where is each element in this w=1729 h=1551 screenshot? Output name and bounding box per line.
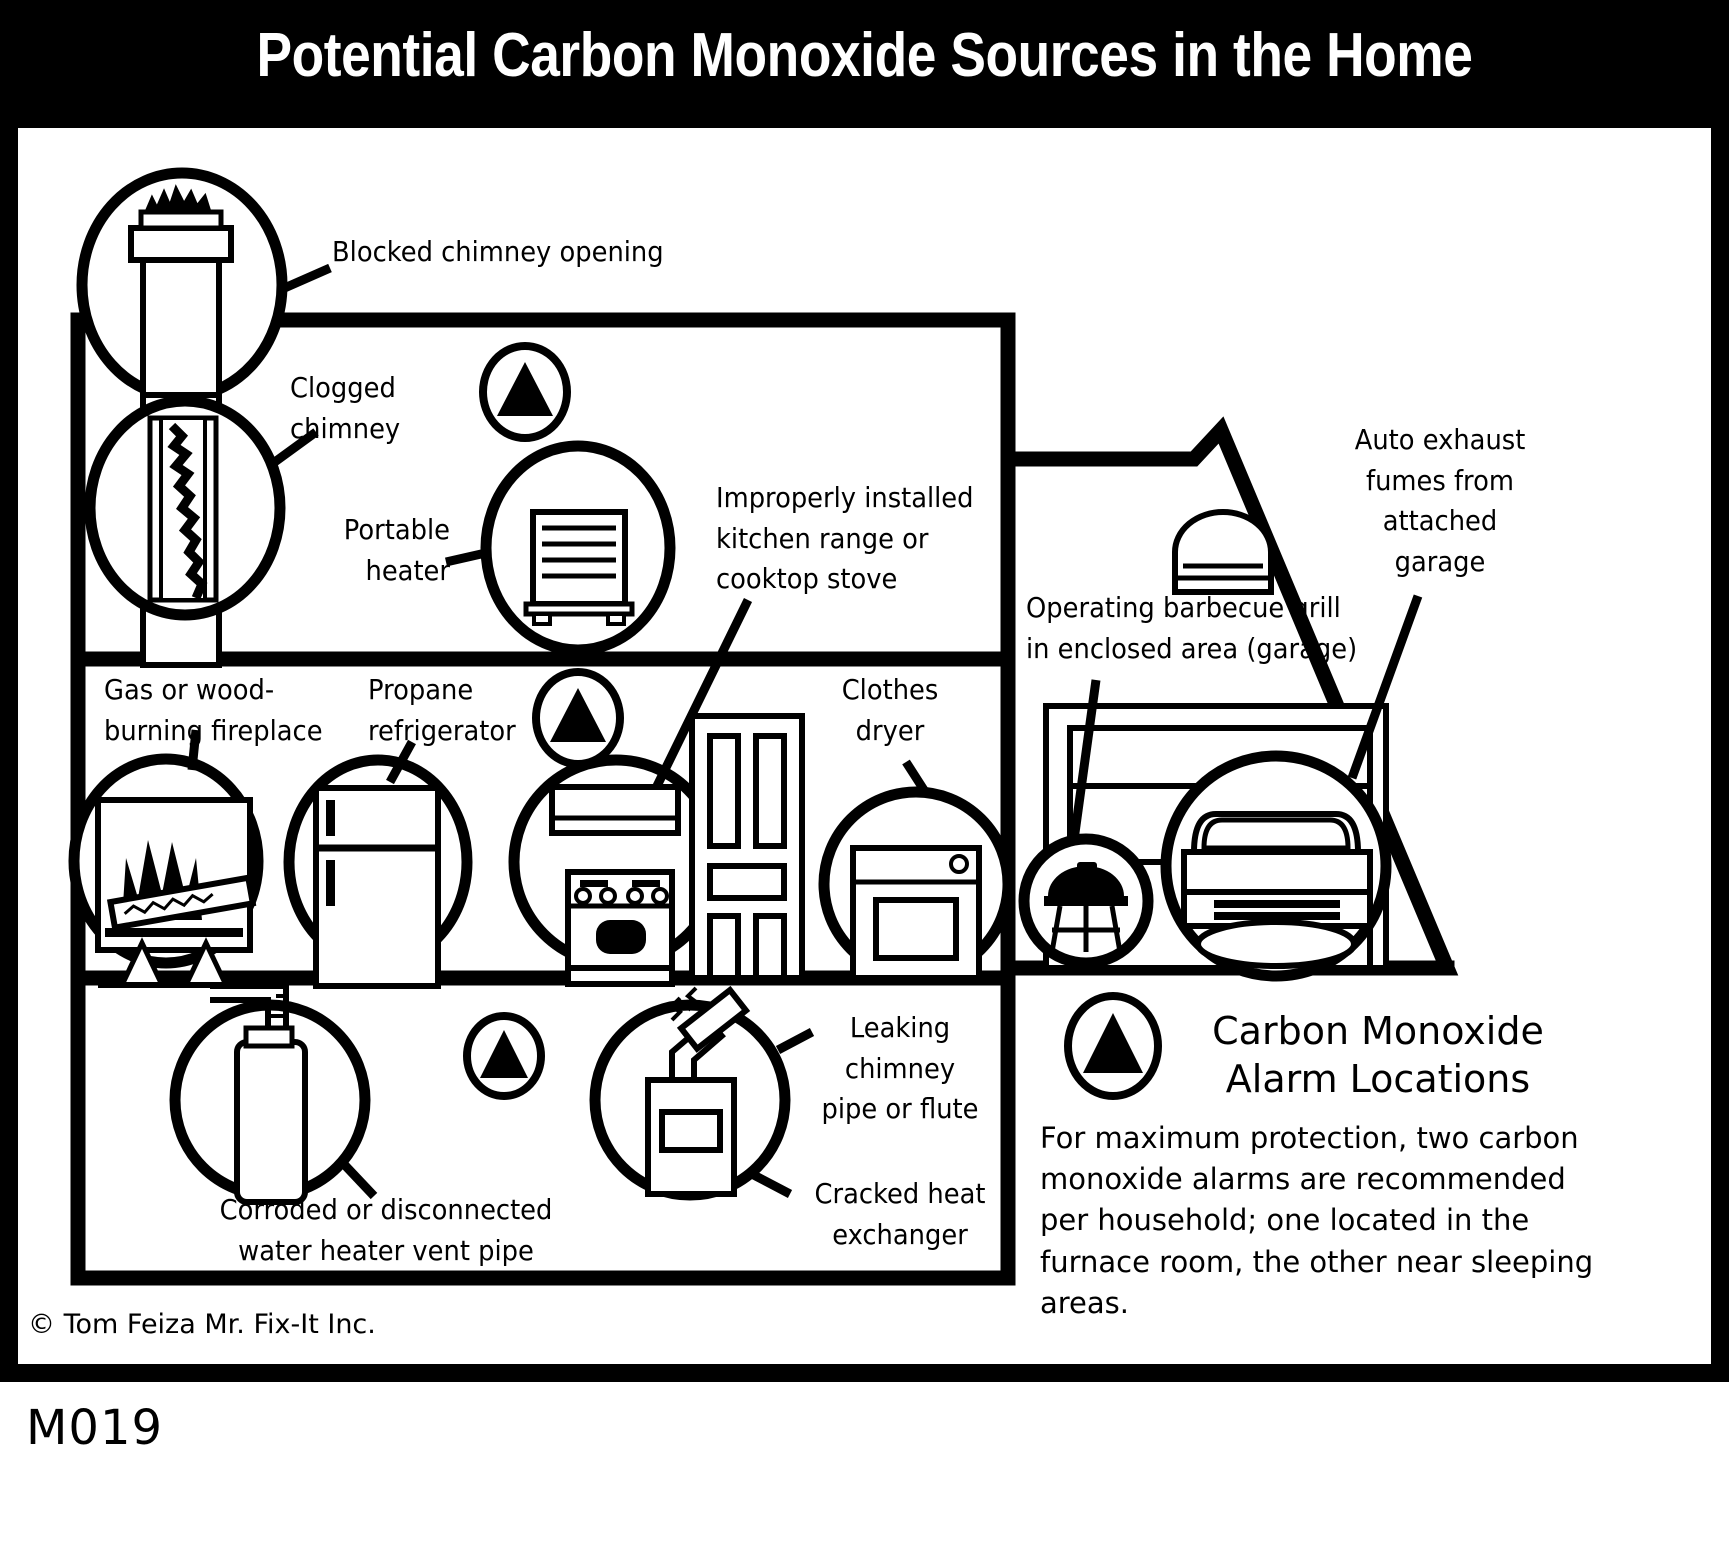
label-blocked-chimney: Blocked chimney opening (332, 232, 664, 273)
label-barbecue-grill: Operating barbecue grill in enclosed are… (1026, 588, 1357, 669)
label-water-heater-vent: Corroded or disconnected water heater ve… (193, 1190, 579, 1271)
label-auto-exhaust: Auto exhaust fumes from attached garage (1339, 420, 1541, 582)
title-bar: Potential Carbon Monoxide Sources in the… (0, 0, 1729, 128)
label-clothes-dryer: Clothes dryer (789, 670, 991, 751)
legend-body: For maximum protection, two carbon monox… (1040, 1118, 1600, 1324)
drawing-code: M019 (26, 1400, 163, 1456)
legend-title: Carbon Monoxide Alarm Locations (1178, 1008, 1578, 1103)
label-leaking-chimney: Leaking chimney pipe or flute (808, 1008, 992, 1130)
label-clogged-chimney: Clogged chimney (290, 368, 400, 449)
label-propane-refrigerator: Propane refrigerator (368, 670, 516, 751)
label-portable-heater: Portable heater (321, 510, 450, 591)
label-kitchen-range: Improperly installed kitchen range or co… (716, 478, 974, 600)
label-fireplace: Gas or wood- burning fireplace (104, 670, 323, 751)
label-cracked-heat-exchanger: Cracked heat exchanger (799, 1174, 1001, 1255)
copyright-notice: © Tom Feiza Mr. Fix-It Inc. (28, 1309, 376, 1340)
diagram-root: Potential Carbon Monoxide Sources in the… (0, 0, 1729, 1551)
page-title: Potential Carbon Monoxide Sources in the… (121, 20, 1608, 91)
